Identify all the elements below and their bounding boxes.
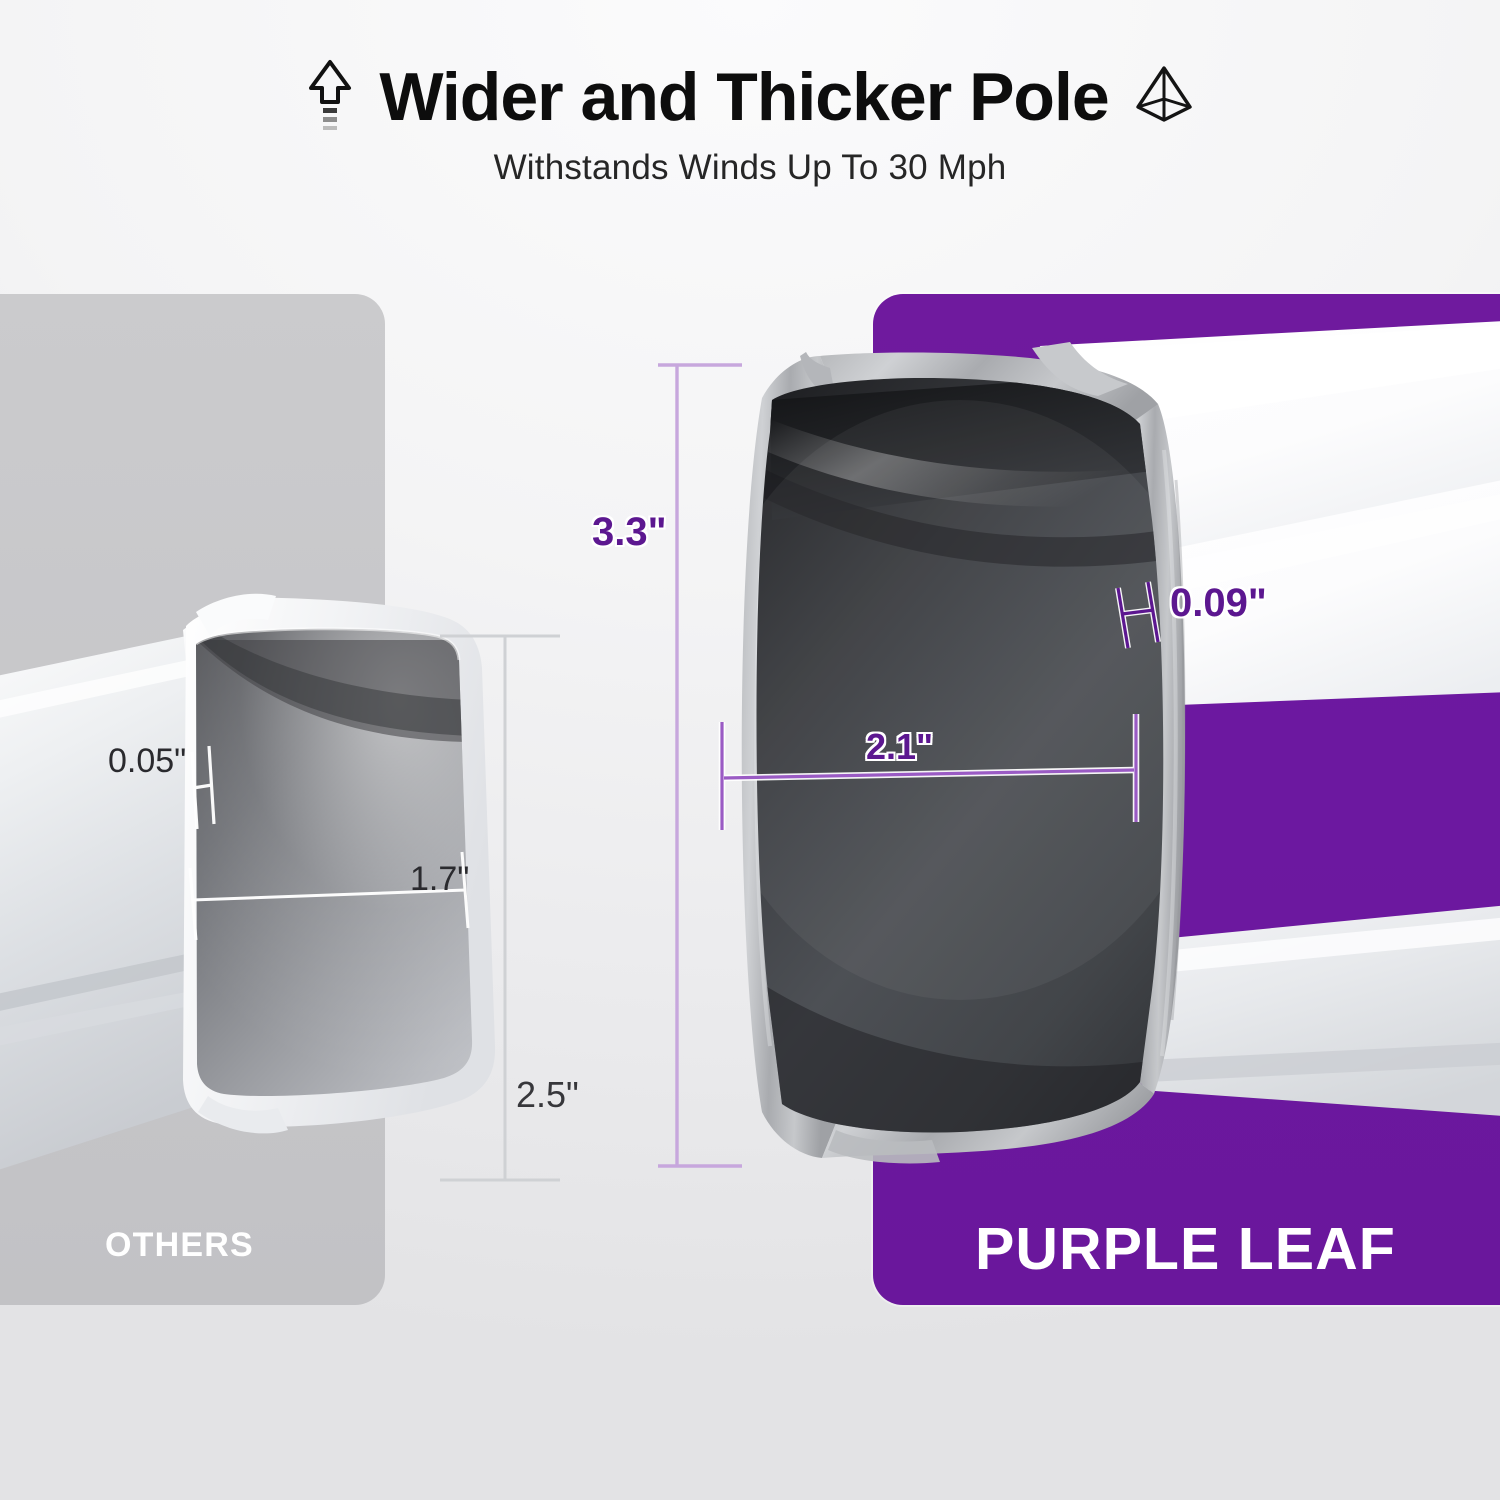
others-wall-thickness-label: 0.05" [108,742,186,781]
purple-leaf-height-label: 3.3" [592,510,667,555]
pyramid-icon [1135,63,1193,130]
up-arrow-icon [307,58,353,135]
title-row: Wider and Thicker Pole [0,58,1500,135]
others-height-label: 2.5" [516,1074,579,1116]
page-title: Wider and Thicker Pole [379,63,1108,131]
others-width-label: 1.7" [410,860,469,899]
others-panel [0,294,385,1305]
purple-leaf-panel [873,294,1500,1305]
purple-leaf-width-label: 2.1" [866,726,933,768]
others-brand-label: OTHERS [105,1226,254,1265]
header: Wider and Thicker Pole Withstands Winds … [0,0,1500,250]
purple-leaf-wall-thickness-label: 0.09" [1170,581,1267,626]
page-subtitle: Withstands Winds Up To 30 Mph [0,148,1500,188]
infographic-canvas: Wider and Thicker Pole Withstands Winds … [0,0,1500,1500]
purple-leaf-brand-label: PURPLE LEAF [975,1215,1396,1283]
